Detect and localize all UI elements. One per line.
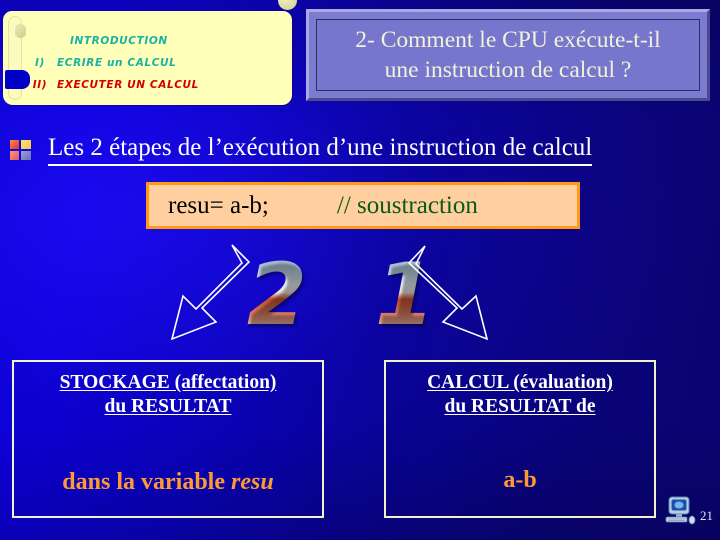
step-body-italic: resu bbox=[231, 469, 274, 495]
page-title-line-1: 2- Comment le CPU exécute-t-il bbox=[355, 25, 660, 55]
step-box-stockage: STOCKAGE (affectation) du RESULTAT dans … bbox=[12, 360, 324, 518]
title-box: 2- Comment le CPU exécute-t-il une instr… bbox=[306, 9, 710, 101]
code-comment: // soustraction bbox=[337, 192, 478, 220]
step-heading-line-1: STOCKAGE (affectation) bbox=[60, 372, 277, 393]
step-heading-line-2: du RESULTAT bbox=[105, 396, 232, 417]
step-body: dans la variable resu bbox=[14, 468, 322, 496]
step-digit-2: 2 bbox=[247, 252, 307, 338]
outline-item-label: INTRODUCTION bbox=[70, 35, 168, 47]
step-heading: CALCUL (évaluation) du RESULTAT de bbox=[386, 371, 654, 419]
computer-monitor-icon[interactable] bbox=[664, 495, 698, 529]
step-heading-line-1: CALCUL (évaluation) bbox=[427, 372, 613, 393]
title-inner: 2- Comment le CPU exécute-t-il une instr… bbox=[316, 19, 700, 91]
outline-rows: INTRODUCTION I) ECRIRE un CALCUL II) EXE… bbox=[23, 35, 286, 101]
step-box-calcul: CALCUL (évaluation) du RESULTAT de a-b bbox=[384, 360, 656, 518]
step-body-plain: dans la variable bbox=[62, 469, 231, 495]
code-expression: resu= a-b; bbox=[168, 192, 269, 220]
page-title-line-2: une instruction de calcul ? bbox=[385, 55, 632, 85]
step-digit-1: 1 bbox=[375, 252, 435, 338]
subtitle-text: Les 2 étapes de l’exécution d’une instru… bbox=[48, 133, 592, 166]
code-box: resu= a-b; // soustraction bbox=[146, 182, 580, 229]
page-number: 21 bbox=[700, 508, 713, 524]
step-body: a-b bbox=[386, 466, 654, 494]
outline-item-introduction[interactable]: INTRODUCTION bbox=[23, 35, 286, 57]
outline-panel[interactable]: INTRODUCTION I) ECRIRE un CALCUL II) EXE… bbox=[3, 11, 292, 105]
outline-item-label: ECRIRE un CALCUL bbox=[57, 57, 176, 69]
subtitle-row: Les 2 étapes de l’exécution d’une instru… bbox=[10, 133, 592, 166]
outline-item-executer[interactable]: II) EXECUTER UN CALCUL bbox=[23, 79, 286, 101]
outline-item-number: I) bbox=[23, 57, 57, 69]
step-heading-line-2: du RESULTAT de bbox=[444, 396, 595, 417]
outline-item-number: II) bbox=[23, 79, 57, 91]
window-panes-icon bbox=[10, 140, 31, 160]
step-body-plain: a-b bbox=[503, 467, 536, 493]
arrow-down-left-icon bbox=[172, 245, 249, 339]
outline-item-ecrire[interactable]: I) ECRIRE un CALCUL bbox=[23, 57, 286, 79]
slide-canvas: INTRODUCTION I) ECRIRE un CALCUL II) EXE… bbox=[0, 0, 720, 540]
outline-tab-knob[interactable] bbox=[278, 0, 297, 10]
step-heading: STOCKAGE (affectation) du RESULTAT bbox=[14, 371, 322, 419]
outline-item-label: EXECUTER UN CALCUL bbox=[57, 79, 199, 91]
